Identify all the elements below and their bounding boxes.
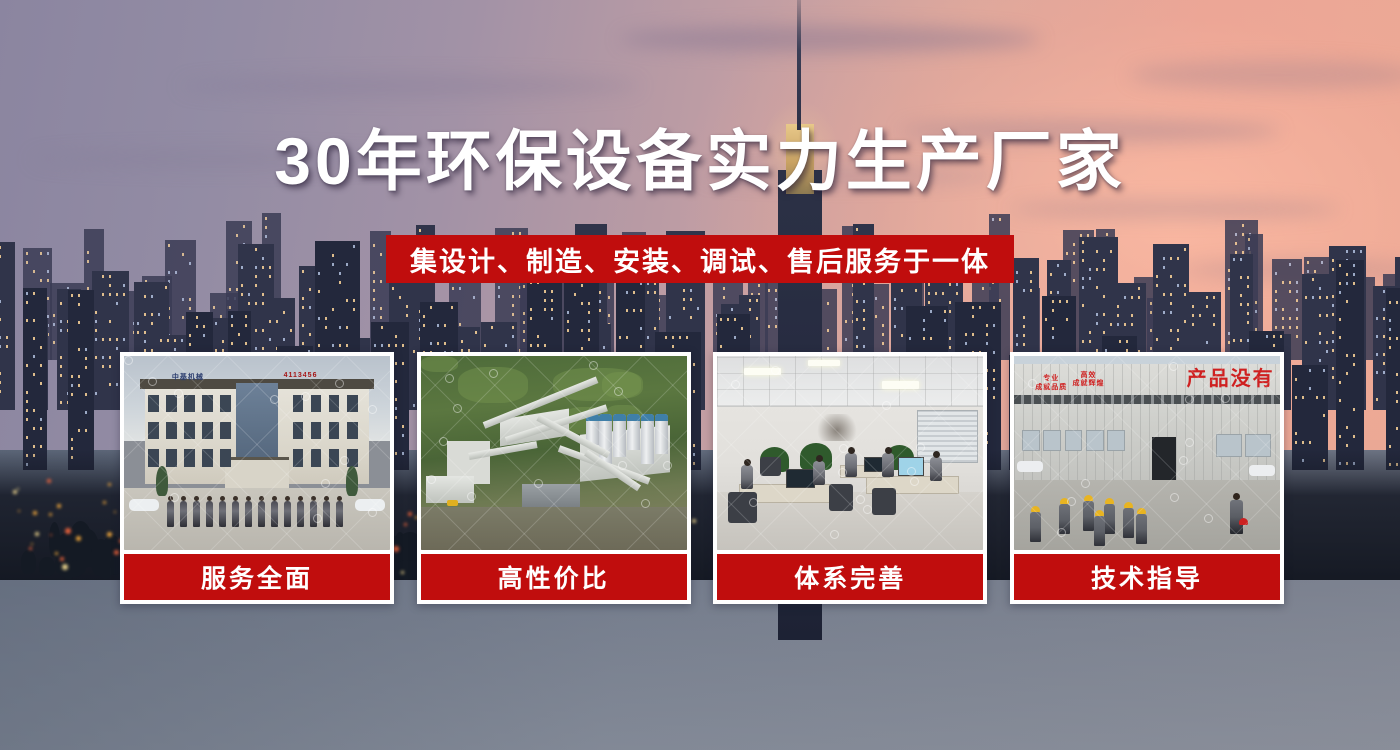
shore-light (114, 550, 119, 555)
shore-light (114, 511, 116, 513)
feature-card-list: 中基机械 4113456 服务全面 高性价比 (120, 352, 1284, 604)
card-caption: 技术指导 (1014, 554, 1280, 600)
supervisor-person (1230, 500, 1243, 534)
staff-person (219, 501, 226, 527)
worker-person (1059, 504, 1070, 534)
tree (39, 557, 55, 576)
page-title: 30年环保设备实力生产厂家 (0, 128, 1400, 194)
office-interior-staff-photo (717, 356, 983, 550)
staff-person (297, 501, 304, 527)
worker-person (1094, 516, 1105, 546)
tower-spire (797, 0, 801, 130)
factory-slogan-large: 产品没有 (1187, 362, 1275, 391)
building (0, 242, 15, 410)
office-building-staff-photo: 中基机械 4113456 (124, 356, 390, 550)
shore-light (29, 547, 32, 550)
staff-person (180, 501, 187, 527)
shore-light (65, 528, 71, 534)
factory-slogan-small: 高效 成就辉煌 (1072, 372, 1104, 390)
promotional-banner: 30年环保设备实力生产厂家 集设计、制造、安装、调试、售后服务于一体 中基机械 … (0, 0, 1400, 750)
feature-card[interactable]: 中基机械 4113456 服务全面 (120, 352, 394, 604)
staff-person (271, 501, 278, 527)
office-person (882, 453, 894, 477)
staff-person (323, 501, 330, 527)
tree (21, 550, 36, 574)
office-person (930, 457, 942, 481)
factory-slogan-small: 专业 成就品质 (1035, 375, 1067, 393)
shore-light (13, 490, 17, 494)
shore-light (107, 532, 112, 537)
building-signage: 中基机械 (172, 372, 204, 382)
worker-person (1083, 501, 1094, 531)
shore-light (62, 564, 68, 570)
staff-person (232, 501, 239, 527)
shore-light (35, 532, 39, 536)
shore-light (17, 488, 19, 490)
card-caption: 高性价比 (421, 554, 687, 600)
shore-light (57, 504, 61, 508)
staff-person (167, 501, 174, 527)
card-caption-text: 高性价比 (498, 559, 610, 595)
shore-light (108, 483, 111, 486)
building (872, 284, 889, 360)
tree (91, 539, 111, 576)
shore-light (60, 557, 64, 561)
building-phone: 4113456 (284, 372, 318, 379)
staff-person (245, 501, 252, 527)
feature-card[interactable]: 高性价比 (417, 352, 691, 604)
wall-decal (813, 414, 861, 441)
subtitle-text: 集设计、制造、安装、调试、售后服务于一体 (410, 240, 990, 279)
shore-light (76, 536, 81, 541)
worker-person (1104, 504, 1115, 534)
shore-light (47, 479, 51, 483)
worker-person (1123, 508, 1134, 538)
shore-light (50, 534, 52, 536)
shore-light (33, 511, 37, 515)
staff-person (284, 501, 291, 527)
staff-person (206, 501, 213, 527)
subtitle-banner: 集设计、制造、安装、调试、售后服务于一体 (386, 235, 1014, 283)
building (1386, 288, 1400, 470)
office-person (741, 465, 753, 489)
staff-person (310, 501, 317, 527)
staff-person (336, 501, 343, 527)
worker-person (1136, 514, 1147, 544)
office-person (845, 453, 857, 477)
building (23, 288, 47, 470)
shore-light (18, 510, 20, 512)
aerial-industrial-plant-photo (421, 356, 687, 550)
shore-light (49, 513, 52, 516)
card-caption-text: 服务全面 (201, 559, 313, 595)
office-person (813, 461, 825, 485)
building (68, 290, 94, 470)
staff-person (193, 501, 200, 527)
worker-person (1030, 512, 1041, 542)
shore-light (31, 543, 33, 545)
staff-person (258, 501, 265, 527)
card-caption: 体系完善 (717, 554, 983, 600)
shore-light (55, 552, 58, 555)
shore-light (103, 501, 106, 504)
workers-training-factory-photo: 产品没有 高效 成就辉煌 专业 成就品质 (1014, 356, 1280, 550)
card-caption-text: 体系完善 (794, 559, 906, 595)
card-caption: 服务全面 (124, 554, 390, 600)
card-caption-text: 技术指导 (1091, 559, 1203, 595)
feature-card[interactable]: 体系完善 (713, 352, 987, 604)
building (1336, 260, 1364, 470)
feature-card[interactable]: 产品没有 高效 成就辉煌 专业 成就品质 技术指导 (1010, 352, 1284, 604)
